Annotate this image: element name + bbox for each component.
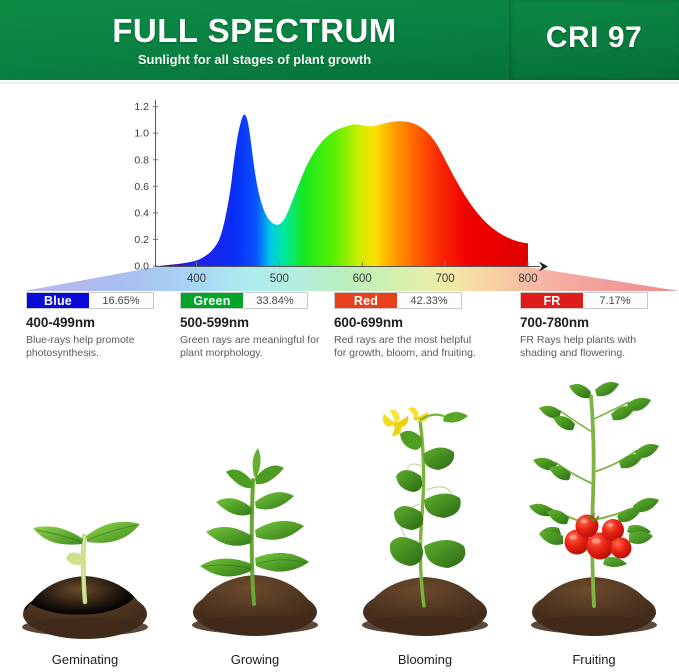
band-name: Red — [335, 293, 397, 308]
y-tick-label: 0.8 — [134, 154, 149, 166]
y-tick-label: 0.2 — [134, 234, 149, 246]
band-percent: 33.84% — [243, 293, 307, 308]
legend-chip: Green 33.84% — [180, 292, 308, 309]
spectrum-band — [24, 267, 679, 291]
band-description: FR Rays help plants with shading and flo… — [520, 334, 670, 360]
x-tick-label: 800 — [518, 273, 537, 285]
band-range: 700-780nm — [520, 315, 672, 331]
x-tick-label: 600 — [353, 273, 372, 285]
band-name: FR — [521, 293, 583, 308]
legend-chip: Blue 16.65% — [26, 292, 154, 309]
band-percent: 16.65% — [89, 293, 153, 308]
legend-band-blue: Blue 16.65% 400-499nm Blue-rays help pro… — [26, 292, 178, 360]
growth-stages: Geminating — [0, 372, 679, 672]
young-plant-icon — [170, 414, 340, 644]
band-name: Blue — [27, 293, 89, 308]
y-tick-label: 1.0 — [134, 128, 149, 140]
band-percent: 7.17% — [583, 293, 647, 308]
band-description: Blue-rays help promote photosynthesis. — [26, 334, 176, 360]
flower-icon — [408, 407, 428, 422]
band-description: Green rays are meaningful for plant morp… — [180, 334, 330, 360]
stage-growing: Growing — [170, 372, 340, 672]
y-tick-label: 1.2 — [134, 101, 149, 113]
header-banner: FULL SPECTRUM Sunlight for all stages of… — [0, 0, 679, 80]
band-range: 400-499nm — [26, 315, 178, 331]
legend-chip: FR 7.17% — [520, 292, 648, 309]
page-subtitle: Sunlight for all stages of plant growth — [0, 52, 509, 67]
spectral-power-curve — [155, 96, 528, 266]
band-range: 600-699nm — [334, 315, 486, 331]
y-axis-ticks: 0.00.20.40.60.81.01.2 — [134, 101, 158, 272]
stage-label: Fruiting — [509, 652, 679, 668]
band-range: 500-599nm — [180, 315, 332, 331]
stage-geminating: Geminating — [0, 372, 170, 672]
stage-fruiting: Fruiting — [509, 372, 679, 672]
spectrum-legend: Blue 16.65% 400-499nm Blue-rays help pro… — [0, 292, 679, 370]
y-tick-label: 0.0 — [134, 261, 149, 273]
spectrum-chart: 0.00.20.40.60.81.01.2 400500600700800 — [0, 86, 679, 291]
legend-band-green: Green 33.84% 500-599nm Green rays are me… — [180, 292, 332, 360]
band-description: Red rays are the most helpful for growth… — [334, 334, 484, 360]
x-tick-label: 400 — [187, 273, 206, 285]
flowering-plant-icon — [340, 394, 510, 644]
band-name: Green — [181, 293, 243, 308]
y-tick-label: 0.4 — [134, 207, 149, 219]
stage-label: Blooming — [340, 652, 510, 668]
seedling-icon — [0, 444, 170, 644]
stage-label: Growing — [170, 652, 340, 668]
header-divider — [0, 80, 679, 84]
stage-label: Geminating — [0, 652, 170, 668]
spectrum-chart-svg: 0.00.20.40.60.81.01.2 400500600700800 — [0, 86, 679, 291]
y-tick-label: 0.6 — [134, 181, 149, 193]
x-tick-label: 500 — [270, 273, 289, 285]
band-percent: 42.33% — [397, 293, 461, 308]
legend-band-red: Red 42.33% 600-699nm Red rays are the mo… — [334, 292, 486, 360]
legend-band-fr: FR 7.17% 700-780nm FR Rays help plants w… — [520, 292, 672, 360]
x-tick-label: 700 — [436, 273, 455, 285]
legend-chip: Red 42.33% — [334, 292, 462, 309]
cri-badge: CRI 97 — [509, 21, 679, 55]
stage-blooming: Blooming — [340, 372, 510, 672]
page-title: FULL SPECTRUM — [0, 13, 509, 49]
tomato-plant-icon — [509, 376, 679, 644]
